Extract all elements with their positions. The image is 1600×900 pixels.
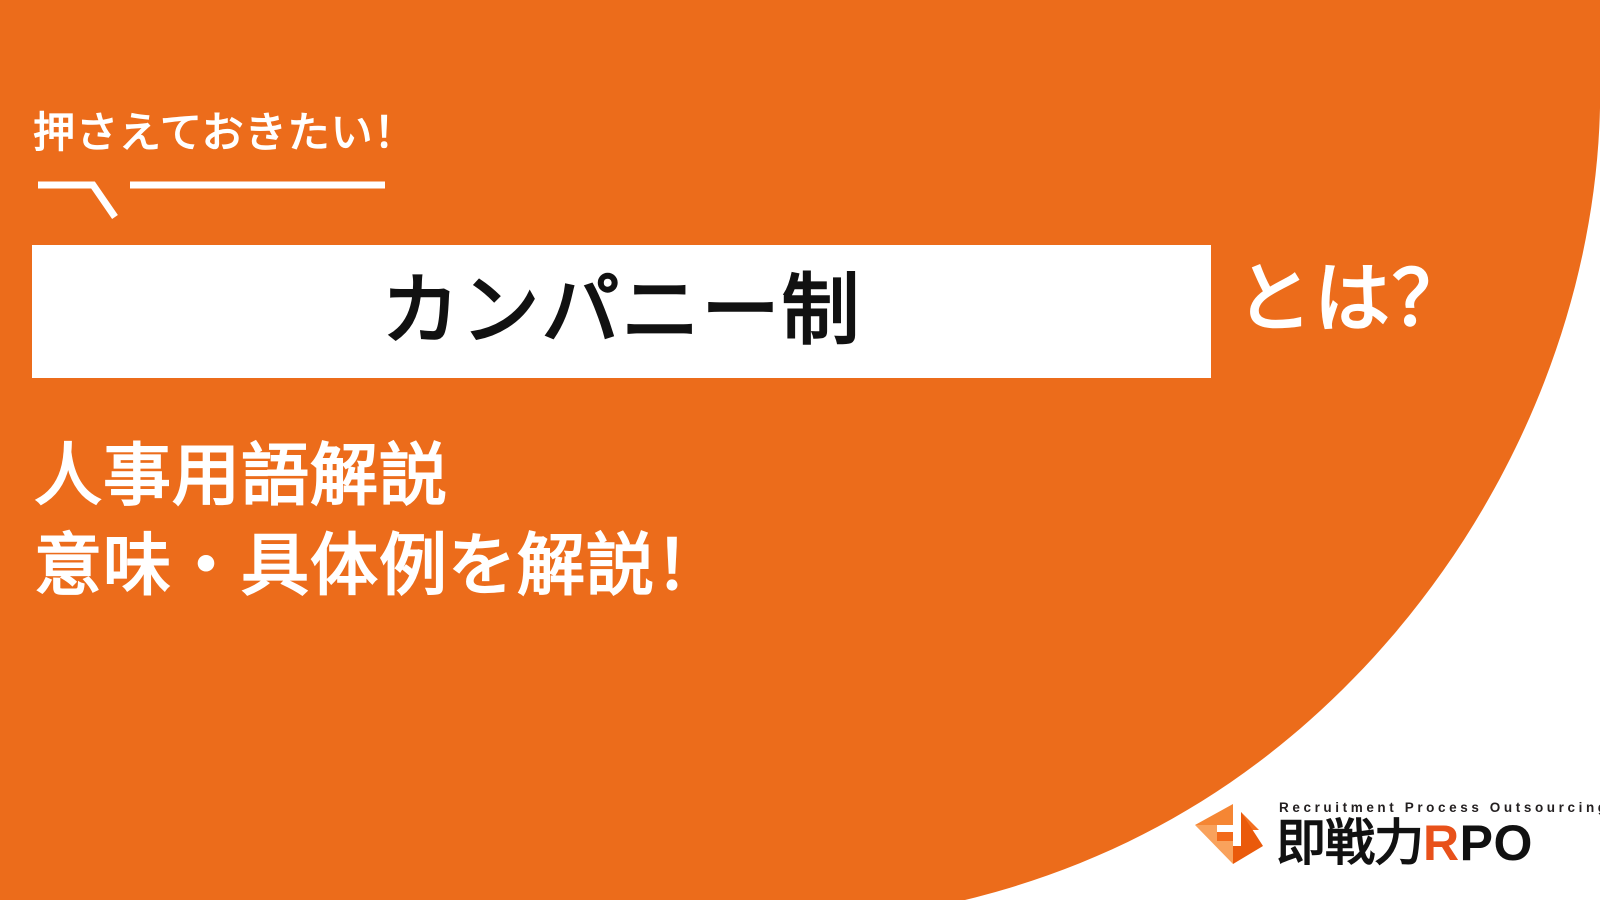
subtitle-line-1: 人事用語解説 (34, 432, 724, 522)
thumbnail-canvas: 押さえておきたい！ カンパニー制 とは？ 人事用語解説 意味・具体例を解説！ R… (0, 0, 1600, 900)
kicker-text: 押さえておきたい！ (33, 112, 417, 154)
logo-wordmark-po: PO (1460, 818, 1533, 868)
logo-wordmark-r: R (1423, 818, 1460, 868)
title-plate: カンパニー制 (32, 245, 1211, 378)
title-suffix: とは？ (1236, 258, 1470, 342)
subtitle-line-2: 意味・具体例を解説！ (34, 522, 724, 612)
title-keyword: カンパニー制 (381, 271, 861, 349)
logo-wordmark: 即戦力 R PO (1276, 818, 1600, 868)
pinwheel-logo-icon (1186, 794, 1272, 874)
pinwheel-center-block (1217, 832, 1233, 841)
logo-text-lockup: Recruitment Process Outsourcing 即戦力 R PO (1276, 801, 1600, 875)
pinwheel-triangle-left (1195, 825, 1233, 864)
pinwheel-triangle-top-left (1195, 804, 1233, 825)
brand-logo: Recruitment Process Outsourcing 即戦力 R PO (1186, 782, 1576, 874)
logo-tagline: Recruitment Process Outsourcing (1279, 801, 1600, 815)
logo-wordmark-jp: 即戦力 (1276, 818, 1423, 868)
pinwheel-triangle-bottom (1233, 846, 1263, 864)
subtitle-block: 人事用語解説 意味・具体例を解説！ (34, 432, 724, 612)
